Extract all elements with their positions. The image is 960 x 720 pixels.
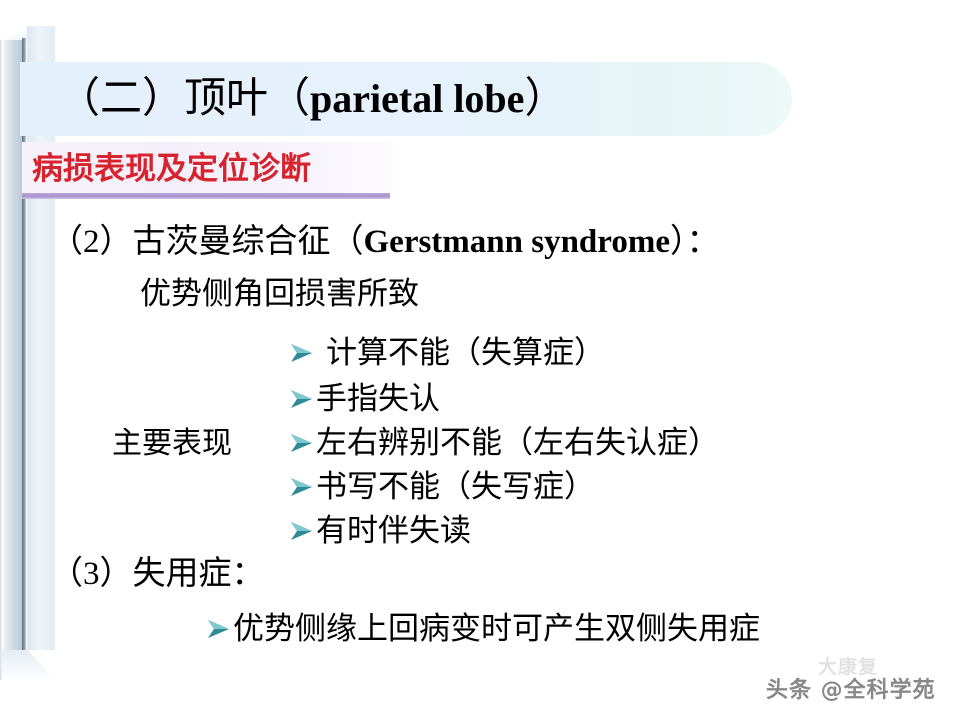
list-item-label: 书写不能（失写症） (316, 466, 595, 508)
section-banner-underline (22, 193, 390, 199)
list-item-label: 左右辨别不能（左右失认症） (316, 422, 719, 464)
title-cn-suffix: ） (524, 76, 566, 122)
list-item: 有时伴失读 (288, 510, 471, 552)
item2-heading: （2）古茨曼综合征（Gerstmann syndrome）： (50, 220, 719, 264)
item2-heading-cn-prefix: （2）古茨曼综合征（ (50, 224, 364, 260)
arrow-bullet-icon (288, 429, 314, 457)
arrow-bullet-icon (288, 339, 314, 367)
list-item: 书写不能（失写症） (288, 466, 595, 508)
watermark: 大康复 头条 @全科学苑 (766, 666, 956, 710)
list-item-label: 有时伴失读 (316, 510, 471, 552)
arrow-bullet-icon (288, 473, 314, 501)
item2-heading-english: Gerstmann syndrome (364, 224, 670, 260)
list-item: 计算不能（失算症） (288, 332, 605, 374)
item2-subheading: 优势侧角回损害所致 (140, 272, 419, 316)
column-bottom-bevel (2, 650, 56, 682)
page-title: （二）顶叶（parietal lobe） (58, 66, 798, 132)
arrow-bullet-icon (288, 517, 314, 545)
list-item: 左右辨别不能（左右失认症） (288, 422, 719, 464)
column-front-face (2, 40, 23, 680)
list-item-label: 优势侧缘上回病变时可产生双侧失用症 (233, 608, 760, 650)
title-english: parietal lobe (310, 76, 524, 121)
main-manifestations-label: 主要表现 (112, 418, 232, 462)
list-item: 手指失认 (288, 378, 440, 420)
section-banner-title: 病损表现及定位诊断 (32, 146, 311, 192)
title-cn-prefix: （二）顶叶（ (58, 76, 310, 122)
list-item: 优势侧缘上回病变时可产生双侧失用症 (205, 608, 760, 650)
list-item-label: 手指失认 (316, 378, 440, 420)
arrow-bullet-icon (288, 385, 314, 413)
item3-heading: （3）失用症： (50, 552, 265, 596)
list-item-label: 计算不能（失算症） (326, 332, 605, 374)
slide-canvas: （二）顶叶（parietal lobe） 病损表现及定位诊断 （2）古茨曼综合征… (0, 0, 960, 720)
arrow-bullet-icon (205, 615, 231, 643)
item2-heading-cn-suffix: ）： (670, 224, 720, 260)
watermark-text: 头条 @全科学苑 (766, 672, 936, 704)
